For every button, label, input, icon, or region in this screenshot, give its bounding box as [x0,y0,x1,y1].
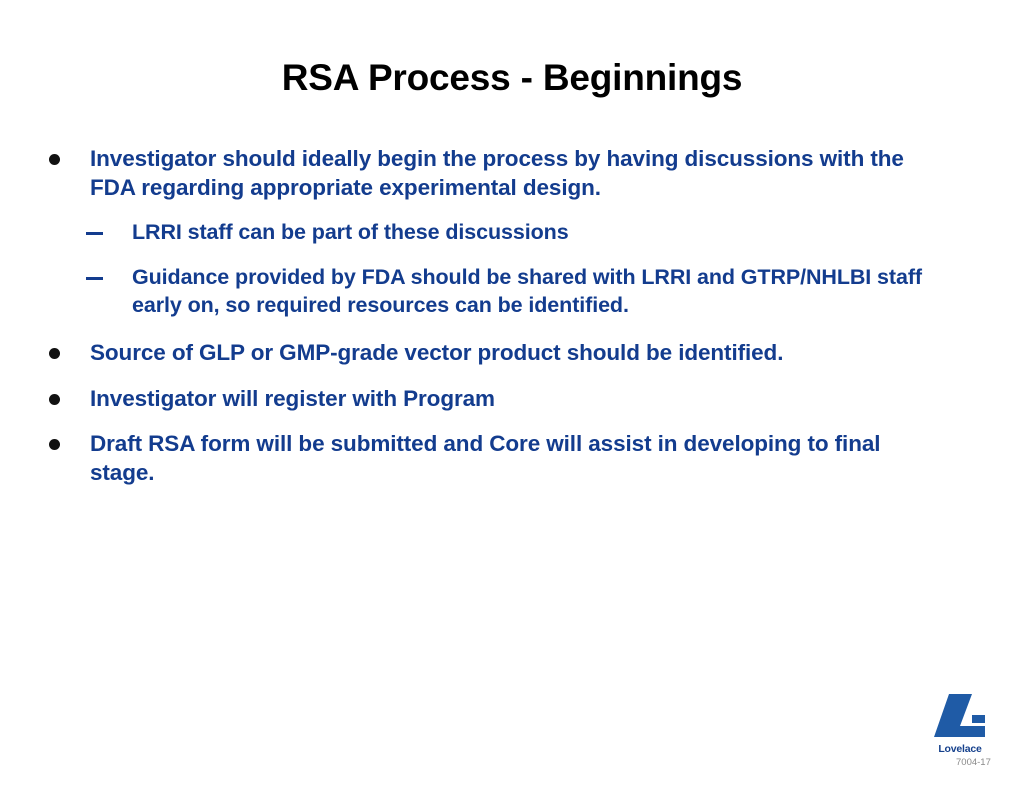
bullet-dot-icon [49,394,60,405]
slide-body: Investigator should ideally begin the pr… [44,144,944,503]
list-item-label: Guidance provided by FDA should be share… [132,264,944,320]
list-item-label: Draft RSA form will be submitted and Cor… [90,429,944,488]
lovelace-wordmark: Lovelace [928,744,992,755]
list-item: LRRI staff can be part of these discussi… [82,219,944,247]
bullet-dot-icon [49,154,60,165]
list-item-label: Investigator will register with Program [90,384,944,413]
list-item: Draft RSA form will be submitted and Cor… [44,429,944,488]
sub-list: LRRI staff can be part of these discussi… [44,219,944,321]
lovelace-logo: Lovelace 7004-17 [920,693,1012,783]
list-item: Investigator will register with Program [44,384,944,413]
slide-code-number: 7004-17 [956,758,1012,768]
bullet-dash-icon [86,277,103,280]
bullet-dot-icon [49,439,60,450]
slide-canvas: RSA Process - Beginnings Investigator sh… [0,0,1024,791]
lovelace-l-mark-icon [928,693,998,743]
list-item-label: Source of GLP or GMP-grade vector produc… [90,338,944,367]
list-item-label: Investigator should ideally begin the pr… [90,144,944,203]
bullet-dash-icon [86,232,103,235]
page-title: RSA Process - Beginnings [0,58,1024,99]
list-item: Guidance provided by FDA should be share… [82,264,944,320]
list-item: Source of GLP or GMP-grade vector produc… [44,338,944,367]
bullet-dot-icon [49,348,60,359]
list-item: Investigator should ideally begin the pr… [44,144,944,203]
list-item-label: LRRI staff can be part of these discussi… [132,219,944,247]
